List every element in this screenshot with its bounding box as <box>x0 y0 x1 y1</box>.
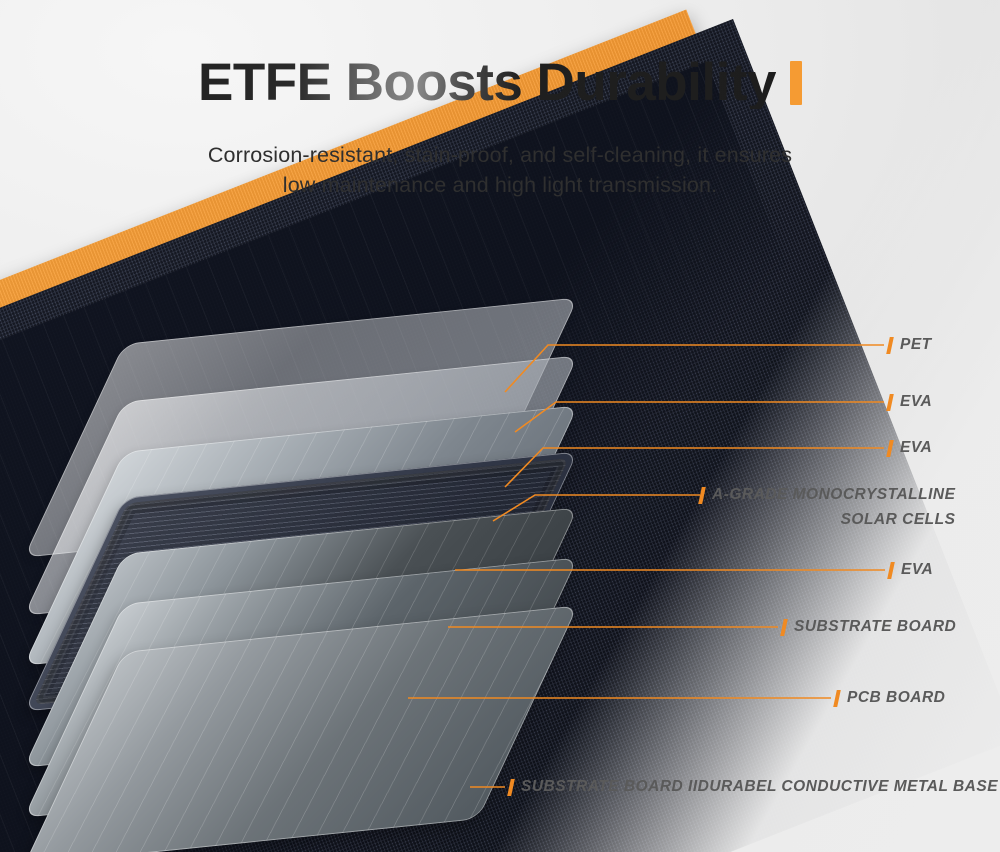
callout-label-text: PCB BOARD <box>847 689 945 707</box>
callout-layer: PET EVA EVA A-GRADE MONOCRYSTALLINE SOLA… <box>0 0 1000 852</box>
callout-tick-icon <box>886 337 894 354</box>
callout-label-text: A-GRADE MONOCRYSTALLINE <box>712 486 955 503</box>
callout-pet: PET <box>888 336 932 354</box>
callout-label-text-line2: SOLAR CELLS <box>712 511 955 529</box>
callout-label-text: SUBSTRATE BOARD <box>794 618 956 636</box>
leader-line-eva-top <box>515 402 884 432</box>
callout-label-text: SUBSTRATE BOARD IIDURABEL CONDUCTIVE MET… <box>521 778 998 796</box>
leader-line-pet <box>505 345 884 392</box>
leader-lines <box>0 0 1000 852</box>
leader-line-solar-cells <box>493 495 700 521</box>
leader-line-eva-second <box>505 448 884 487</box>
callout-tick-icon <box>507 779 515 796</box>
callout-tick-icon <box>886 394 894 411</box>
callout-eva-second: EVA <box>888 439 932 457</box>
callout-label-text: EVA <box>900 439 932 457</box>
callout-label-text: EVA <box>900 393 932 411</box>
callout-tick-icon <box>833 690 841 707</box>
callout-tick-icon <box>887 562 895 579</box>
callout-tick-icon <box>886 440 894 457</box>
callout-eva-top: EVA <box>888 393 932 411</box>
callout-label-text: EVA <box>901 561 933 579</box>
callout-eva-third: EVA <box>889 561 933 579</box>
callout-metal-base: SUBSTRATE BOARD IIDURABEL CONDUCTIVE MET… <box>509 778 998 796</box>
callout-solar-cells: A-GRADE MONOCRYSTALLINE SOLAR CELLS <box>700 486 955 529</box>
callout-tick-icon <box>780 619 788 636</box>
callout-label-text-block: A-GRADE MONOCRYSTALLINE SOLAR CELLS <box>712 486 955 529</box>
promo-graphic-stage: ETFE Boosts Durability Corrosion-resista… <box>0 0 1000 852</box>
callout-tick-icon <box>698 487 706 504</box>
callout-substrate-board: SUBSTRATE BOARD <box>782 618 956 636</box>
callout-pcb-board: PCB BOARD <box>835 689 945 707</box>
callout-label-text: PET <box>900 336 932 354</box>
